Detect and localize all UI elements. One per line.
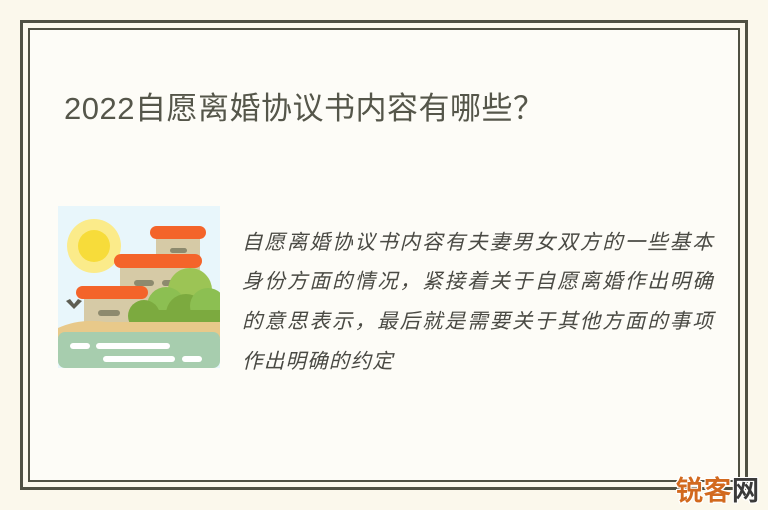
seaside-village-illustration — [58, 206, 220, 368]
watermark-dark-text: 网 — [732, 476, 760, 506]
article-content-row: 自愿离婚协议书内容有夫妻男女双方的一些基本身份方面的情况，紧接着关于自愿离婚作出… — [58, 202, 714, 403]
article-card-inner: 2022自愿离婚协议书内容有哪些？ — [28, 28, 740, 482]
article-card-frame: 2022自愿离婚协议书内容有哪些？ — [20, 20, 748, 490]
watermark-colored-text: 锐客 — [676, 476, 732, 506]
site-watermark: 锐客网 — [676, 469, 760, 508]
page-title: 2022自愿离婚协议书内容有哪些？ — [64, 87, 684, 132]
article-body-text: 自愿离婚协议书内容有夫妻男女双方的一些基本身份方面的情况，紧接着关于自愿离婚作出… — [242, 223, 714, 383]
